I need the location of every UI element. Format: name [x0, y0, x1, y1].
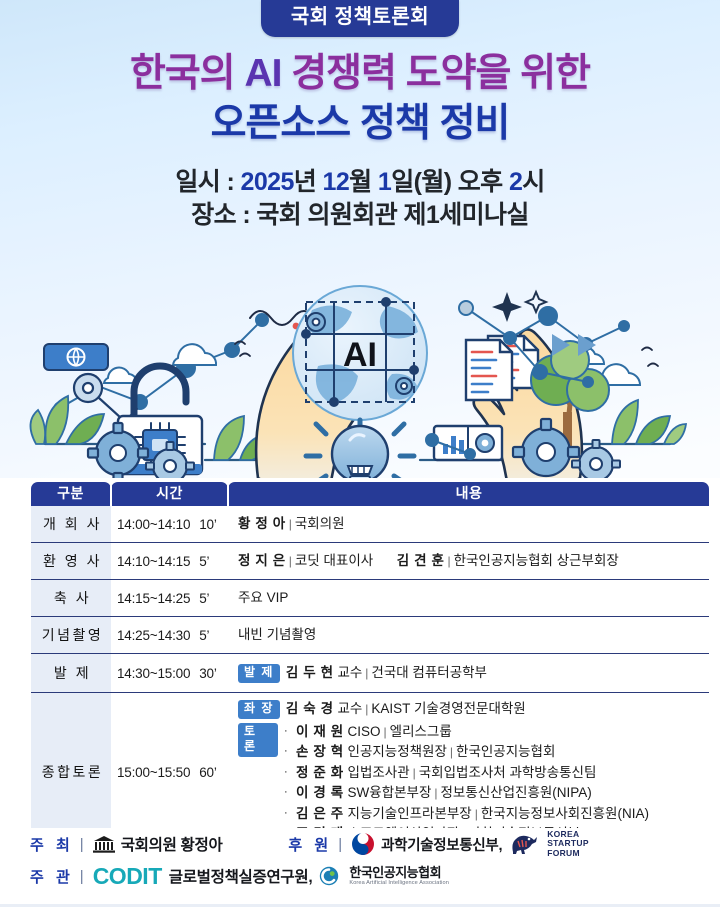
chair-affiliation: KAIST 기술경영전문대학원 [371, 699, 525, 719]
sponsor-ministry: 과학기술정보통신부, [381, 834, 502, 855]
panelist-affiliation: 정보통신산업진흥원(NIPA) [441, 785, 592, 800]
search-window-icon [44, 344, 108, 370]
panelist-role: SW융합본부장 [348, 785, 432, 800]
discussion-tag: 토 론 [238, 723, 278, 757]
date-day: 1 [378, 168, 391, 196]
poster-root: 국회 정책토론회 한국의 AI 경쟁력 도약을 위한 오픈소스 정책 정비 일시… [0, 0, 720, 907]
row-content: 주요 VIP [228, 580, 709, 617]
bullet-icon: · [284, 722, 296, 740]
list-item: ·정 준 화 입법조사관|국회입법조사처 과학방송통신팀 [284, 763, 649, 784]
speaker-affiliation: 건국대 컴퓨터공학부 [371, 665, 487, 680]
row-time-range: 14:10~14:15 [117, 554, 190, 569]
row-duration: 60’ [199, 765, 216, 780]
table-row: 개 회 사 14:00~14:1010’ 황 정 아|국회의원 [31, 506, 709, 543]
row-time-range: 15:00~15:50 [117, 765, 190, 780]
speaker-affiliation: 국회의원 [295, 516, 345, 531]
taegeuk-icon [351, 832, 375, 856]
panelist-separator: | [434, 786, 437, 800]
speaker-separator: | [289, 554, 292, 568]
panelist-affiliation: 한국인공지능협회 [456, 744, 555, 759]
panel-chair-line: 좌 장김 숙 경 교수|KAIST 기술경영전문대학원 [238, 699, 709, 719]
row-category: 기념촬영 [31, 617, 111, 654]
list-item: ·손 장 혁 인공지능정책원장|한국인공지능협회 [284, 742, 649, 763]
row-content: 황 정 아|국회의원 [228, 506, 709, 543]
agenda-header-content: 내용 [228, 482, 709, 506]
row-duration: 10’ [199, 517, 216, 532]
row-time: 14:25~14:305’ [111, 617, 228, 654]
speaker-affiliation: 코딧 대표이사 [295, 553, 373, 568]
organizer-name: 글로벌정책실증연구원, [169, 865, 313, 887]
presentation-tag: 발 제 [238, 664, 280, 683]
host-label: 주 최 [30, 834, 74, 855]
footer-host-row: 주 최 | 국회의원 황정아 후 원 | [0, 828, 720, 860]
agenda-header-category: 구분 [31, 482, 111, 506]
speaker-separator: | [365, 666, 368, 680]
sponsor-label: 후 원 [288, 834, 332, 855]
ksf-line-3: FORUM [547, 848, 580, 858]
bullet-icon: · [284, 783, 296, 801]
row-category: 축 사 [31, 580, 111, 617]
list-item: ·이 재 원 CISO|엘리스그룹 [284, 722, 649, 743]
panelist-list: ·이 재 원 CISO|엘리스그룹 ·손 장 혁 인공지능정책원장|한국인공지능… [284, 722, 649, 845]
panelist-name: 이 경 록 [296, 785, 344, 800]
date-label: 일시 : [175, 168, 240, 196]
row-content: 정 지 은|코딧 대표이사 김 견 훈|한국인공지능협회 상근부회장 [228, 543, 709, 580]
row-time-range: 14:25~14:30 [117, 628, 190, 643]
speaker-separator: | [447, 554, 450, 568]
title-line-1-part-b: 경쟁력 도약을 위한 [281, 52, 590, 95]
speaker-name: 정 지 은 [238, 553, 286, 568]
date-year: 2025 [241, 168, 294, 196]
date-year-suffix: 년 [294, 168, 323, 196]
row-category: 환 영 사 [31, 543, 111, 580]
panelist-separator: | [475, 807, 478, 821]
sponsor-bar: | [338, 836, 342, 853]
kicker-badge-wrap: 국회 정책토론회 [0, 0, 720, 37]
panelist-name: 이 재 원 [296, 724, 344, 739]
speaker-role: 교수 [337, 665, 362, 680]
hero-illustration: AI [0, 248, 720, 478]
bullet-icon: · [284, 742, 296, 760]
title-line-1: 한국의 AI 경쟁력 도약을 위한 [0, 50, 720, 98]
plant-right [612, 400, 686, 444]
row-time: 14:15~14:255’ [111, 580, 228, 617]
chair-separator: | [365, 700, 368, 718]
host-name: 국회의원 황정아 [121, 833, 223, 855]
kaia-korean-name: 한국인공지능협회 [349, 866, 449, 880]
panelist-role: 지능기술인프라본부장 [348, 806, 472, 821]
panelist-name: 손 장 혁 [296, 744, 344, 759]
row-content: 발 제김 두 현 교수|건국대 컴퓨터공학부 [228, 654, 709, 693]
ai-globe-label: AI [343, 336, 377, 374]
row-time: 14:30~15:0030’ [111, 654, 228, 693]
ai-globe-icon: AI [293, 286, 427, 420]
speaker-affiliation: 한국인공지능협회 상근부회장 [454, 553, 619, 568]
row-time-range: 14:00~14:10 [117, 517, 190, 532]
table-row: 축 사 14:15~14:255’ 주요 VIP [31, 580, 709, 617]
row-duration: 5’ [199, 628, 209, 643]
row-time-range: 14:15~14:25 [117, 591, 190, 606]
host-bar: | [80, 836, 84, 853]
chair-role: 교수 [337, 699, 362, 719]
panel-tag-col: 토 론 [238, 722, 284, 757]
korea-startup-forum-logo-icon [508, 832, 538, 856]
panelist-affiliation: 엘리스그룹 [390, 724, 452, 739]
row-duration: 30’ [199, 666, 216, 681]
organizer-bar: | [80, 868, 84, 885]
sparkle-icons [492, 292, 546, 322]
agenda-header-row: 구분 시간 내용 [31, 482, 709, 506]
korea-startup-forum-text: KOREA STARTUP FORUM [547, 830, 589, 858]
speaker-separator: | [289, 517, 292, 531]
date-day-suffix: 일(월) 오후 [391, 168, 509, 196]
speaker-name: 김 두 현 [286, 665, 334, 680]
panelist-affiliation: 한국지능정보사회진흥원(NIA) [481, 806, 649, 821]
row-content: 내빈 기념촬영 [228, 617, 709, 654]
lightbulb-icon [332, 426, 388, 478]
panelist-separator: | [384, 725, 387, 739]
event-datetime-line: 일시 : 2025년 12월 1일(월) 오후 2시 [0, 166, 720, 199]
plant-left [30, 396, 104, 444]
title-line-2: 오픈소스 정책 정비 [0, 100, 720, 148]
panelist-name: 정 준 화 [296, 765, 344, 780]
list-item: ·이 경 록 SW융합본부장|정보통신산업진흥원(NIPA) [284, 783, 649, 804]
footer-organizer-row: 주 관 | CODIT 글로벌정책실증연구원, 한국인공지능협회 Korea A… [0, 860, 720, 892]
assembly-building-icon [93, 835, 115, 853]
date-month: 12 [323, 168, 350, 196]
panelist-role: CISO [348, 724, 381, 739]
title-block: 한국의 AI 경쟁력 도약을 위한 오픈소스 정책 정비 [0, 50, 720, 147]
kicker-badge: 국회 정책토론회 [261, 0, 459, 37]
row-time-range: 14:30~15:00 [117, 666, 190, 681]
chair-name: 김 숙 경 [286, 699, 334, 719]
panel-discussion-block: 토 론 ·이 재 원 CISO|엘리스그룹 ·손 장 혁 인공지능정책원장|한국… [238, 722, 709, 845]
organizer-label: 주 관 [30, 866, 74, 887]
bullet-icon: · [284, 763, 296, 781]
bullet-icon: · [284, 804, 296, 822]
panelist-role: 입법조사관 [348, 765, 410, 780]
row-duration: 5’ [199, 554, 209, 569]
panelist-affiliation: 국회입법조사처 과학방송통신팀 [419, 765, 597, 780]
panelist-name: 김 은 주 [296, 806, 344, 821]
title-line-1-part-a: 한국의 [130, 52, 244, 95]
panelist-separator: | [413, 766, 416, 780]
date-month-suffix: 월 [349, 168, 378, 196]
table-row: 기념촬영 14:25~14:305’ 내빈 기념촬영 [31, 617, 709, 654]
row-time: 14:00~14:1010’ [111, 506, 228, 543]
speaker-name: 황 정 아 [238, 516, 286, 531]
event-place-line: 장소 : 국회 의원회관 제1세미나실 [0, 199, 720, 232]
event-meta: 일시 : 2025년 12월 1일(월) 오후 2시 장소 : 국회 의원회관 … [0, 166, 720, 233]
hero-section: 국회 정책토론회 한국의 AI 경쟁력 도약을 위한 오픈소스 정책 정비 일시… [0, 0, 720, 478]
title-ai-word: AI [244, 52, 281, 95]
chair-tag: 좌 장 [238, 700, 280, 719]
row-duration: 5’ [199, 591, 209, 606]
kaia-english-name: Korea Artificial Intelligence Associatio… [349, 880, 449, 886]
panelist-role: 인공지능정책원장 [348, 744, 447, 759]
date-hour: 2 [509, 168, 522, 196]
agenda-header-time: 시간 [111, 482, 228, 506]
row-time: 14:10~14:155’ [111, 543, 228, 580]
speaker-name: 김 견 훈 [397, 553, 445, 568]
agenda-section: 구분 시간 내용 개 회 사 14:00~14:1010’ 황 정 아|국회의원… [0, 478, 720, 830]
date-hour-suffix: 시 [522, 168, 544, 196]
row-category: 발 제 [31, 654, 111, 693]
footer-section: 주 최 | 국회의원 황정아 후 원 | [0, 828, 720, 907]
codit-logo-text: CODIT [93, 863, 162, 890]
kaia-logo-text: 한국인공지능협회 Korea Artificial Intelligence A… [349, 866, 449, 886]
panelist-separator: | [450, 745, 453, 759]
table-row: 환 영 사 14:10~14:155’ 정 지 은|코딧 대표이사 김 견 훈|… [31, 543, 709, 580]
row-category: 개 회 사 [31, 506, 111, 543]
kaia-logo-icon [319, 866, 339, 886]
table-row: 발 제 14:30~15:0030’ 발 제김 두 현 교수|건국대 컴퓨터공학… [31, 654, 709, 693]
list-item: ·김 은 주 지능기술인프라본부장|한국지능정보사회진흥원(NIA) [284, 804, 649, 825]
